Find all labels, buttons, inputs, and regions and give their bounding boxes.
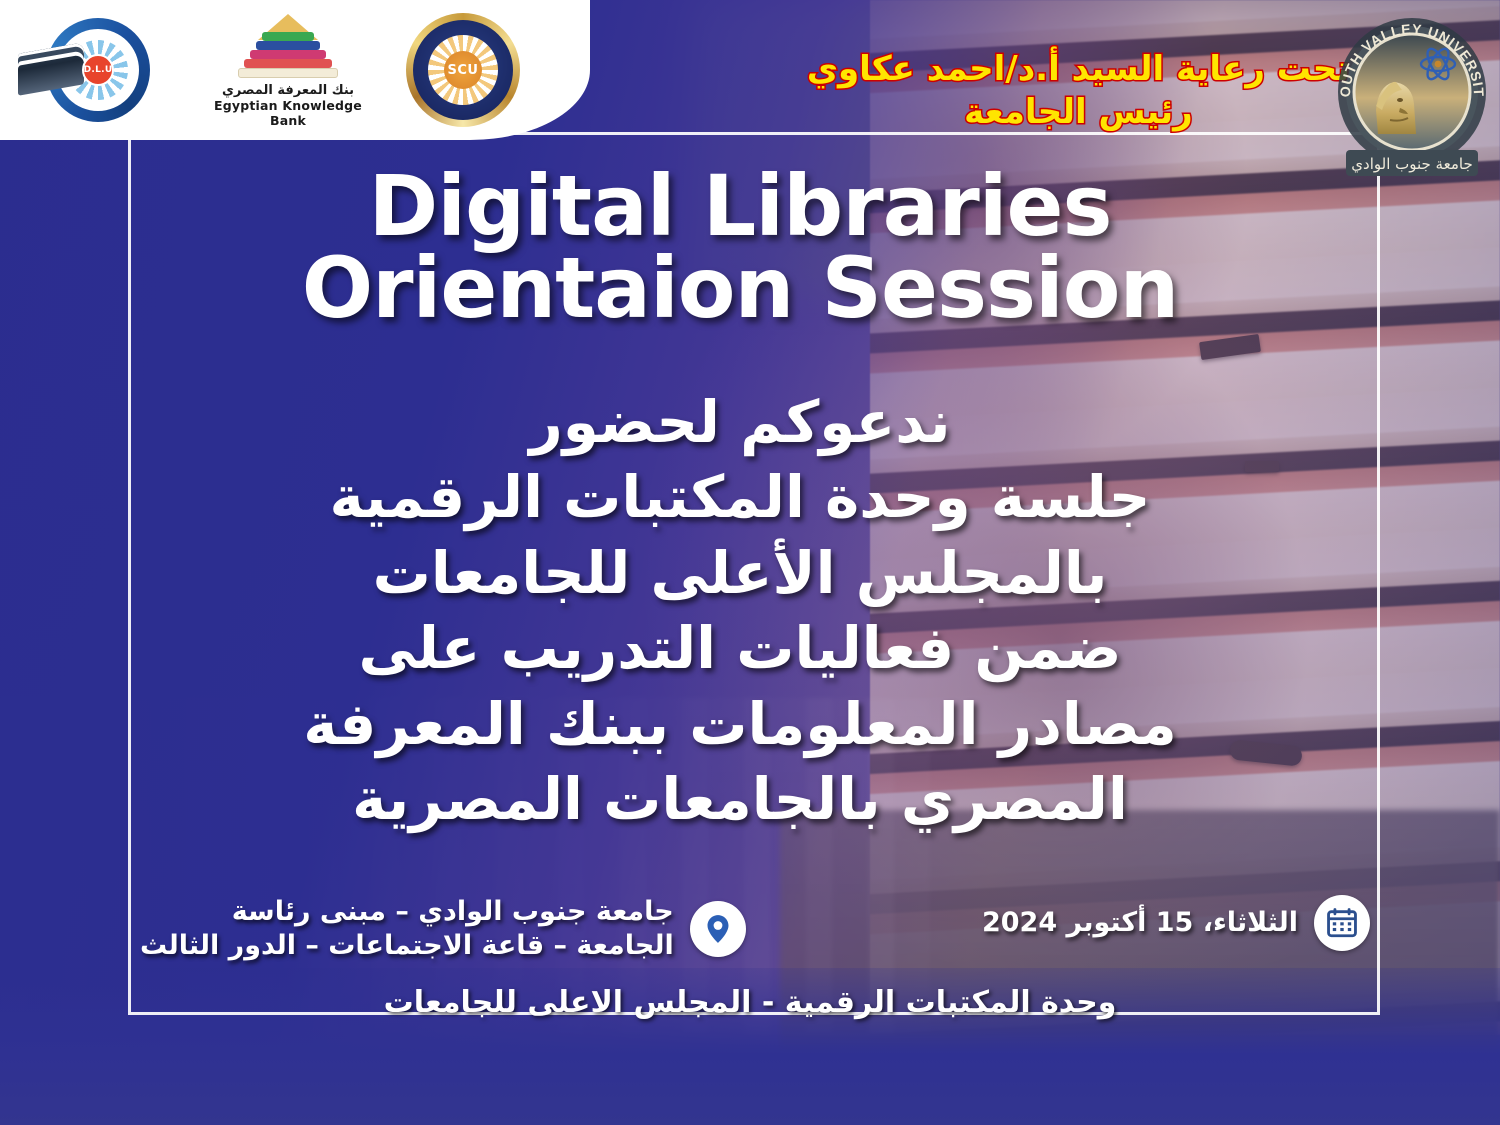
event-date-block: الثلاثاء، 15 أكتوبر 2024 xyxy=(982,895,1370,951)
event-poster: D.L.U بنك المعرفة المصري Egyptian Knowle… xyxy=(0,0,1500,1125)
ekb-book xyxy=(250,50,326,59)
south-valley-university-logo: SOUTH VALLEY UNIVERSITY جامعة جنوب الواد… xyxy=(1332,4,1492,180)
map-pin-icon-svg xyxy=(701,912,735,946)
body-line-4: ضمن فعاليات التدريب على xyxy=(140,611,1340,686)
ekb-caption-en: Egyptian Knowledge Bank xyxy=(198,98,378,128)
patron-line-2: رئيس الجامعة xyxy=(807,91,1350,134)
poster-title: Digital Libraries Orientaion Session xyxy=(150,165,1330,330)
title-line-2: Orientaion Session xyxy=(150,247,1330,329)
event-details-row: الثلاثاء، 15 أكتوبر 2024 جامعة جنوب الوا… xyxy=(140,895,1370,963)
ekb-book xyxy=(262,32,314,41)
patron-text: تحت رعاية السيد أ.د/احمد عكاوي رئيس الجا… xyxy=(807,48,1350,133)
poster-body-text: ندعوكم لحضور جلسة وحدة المكتبات الرقمية … xyxy=(140,385,1340,837)
patron-line-1: تحت رعاية السيد أ.د/احمد عكاوي xyxy=(807,48,1350,91)
map-pin-icon xyxy=(690,901,746,957)
body-line-1: ندعوكم لحضور xyxy=(140,385,1340,460)
body-line-2: جلسة وحدة المكتبات الرقمية xyxy=(140,460,1340,535)
egyptian-knowledge-bank-logo: بنك المعرفة المصري Egyptian Knowledge Ba… xyxy=(198,12,378,129)
event-date-text: الثلاثاء، 15 أكتوبر 2024 xyxy=(982,906,1298,940)
footer-text: وحدة المكتبات الرقمية - المجلس الاعلى لل… xyxy=(0,985,1500,1020)
calendar-icon-svg xyxy=(1325,906,1359,940)
logo-header-bar: D.L.U بنك المعرفة المصري Egyptian Knowle… xyxy=(0,0,590,140)
event-location-block: جامعة جنوب الوادي – مبنى رئاسة الجامعة –… xyxy=(140,895,746,963)
calendar-icon xyxy=(1314,895,1370,951)
dlu-core-label: D.L.U xyxy=(82,54,114,86)
body-line-3: بالمجلس الأعلى للجامعات xyxy=(140,536,1340,611)
scu-abbr-label: SCU xyxy=(444,51,482,89)
event-location-text: جامعة جنوب الوادي – مبنى رئاسة الجامعة –… xyxy=(140,895,674,963)
location-line-2: الجامعة – قاعة الاجتماعات – الدور الثالث xyxy=(140,930,674,961)
body-line-6: المصري بالجامعات المصرية xyxy=(140,762,1340,837)
location-line-1: جامعة جنوب الوادي – مبنى رئاسة xyxy=(232,896,674,927)
svg-text:جامعة جنوب الوادي: جامعة جنوب الوادي xyxy=(1351,155,1472,174)
ekb-book xyxy=(244,59,332,68)
ekb-book xyxy=(238,68,338,78)
supreme-council-of-universities-logo: SCU xyxy=(404,11,522,129)
ekb-caption-ar: بنك المعرفة المصري xyxy=(222,83,354,99)
body-line-5: مصادر المعلومات ببنك المعرفة xyxy=(140,687,1340,762)
digital-library-unit-logo: D.L.U xyxy=(12,14,172,126)
title-line-1: Digital Libraries xyxy=(150,165,1330,247)
ekb-book-stack-icon xyxy=(228,14,348,80)
ekb-book xyxy=(256,41,320,50)
svu-logo-svg: SOUTH VALLEY UNIVERSITY جامعة جنوب الواد… xyxy=(1332,4,1492,180)
